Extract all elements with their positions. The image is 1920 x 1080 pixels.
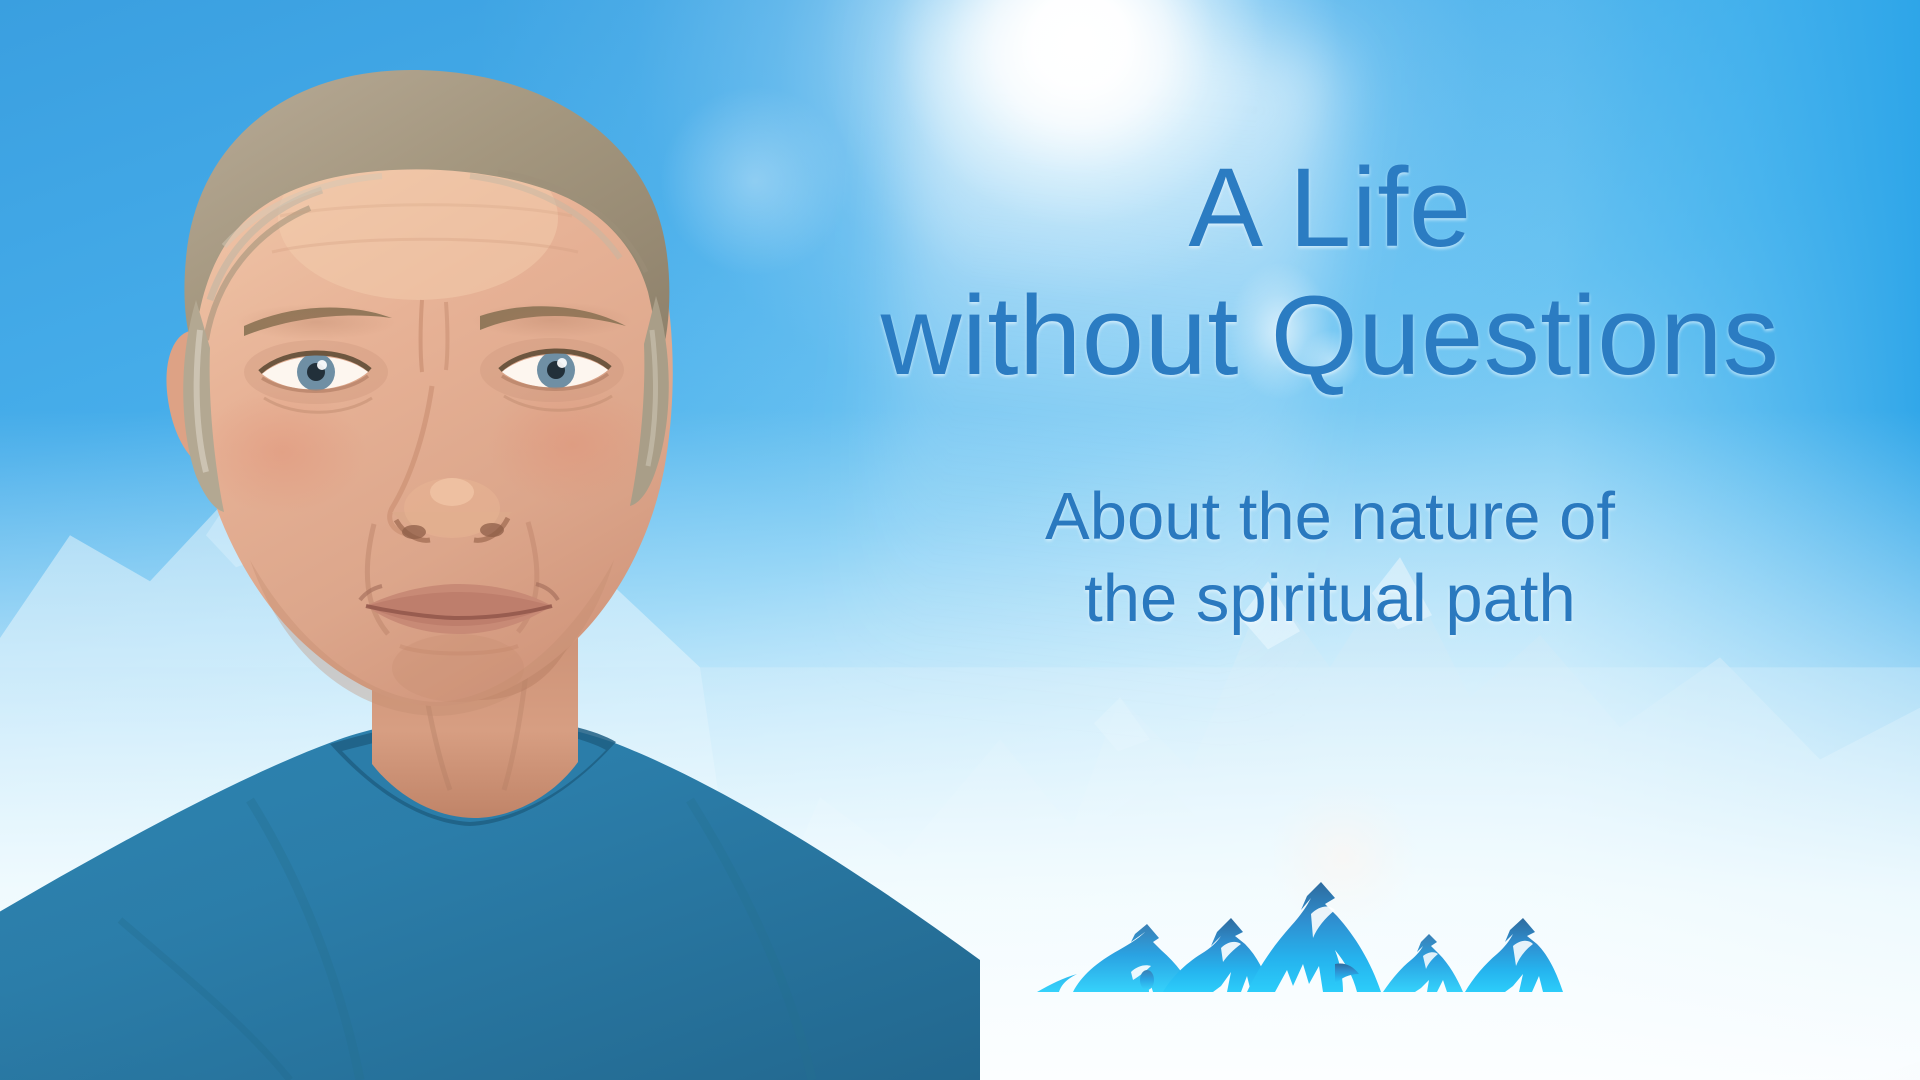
portrait-photo — [0, 0, 1010, 1080]
subtitle: About the nature of the spiritual path — [1045, 476, 1615, 639]
title-line-1: A Life — [1188, 152, 1471, 264]
title-line-2: without Questions — [881, 280, 1780, 392]
mountain-range-logo-icon — [1035, 880, 1565, 1005]
subtitle-line-1: About the nature of — [1045, 476, 1615, 558]
banner-image: A Life without Questions About the natur… — [0, 0, 1920, 1080]
subtitle-line-2: the spiritual path — [1045, 558, 1615, 640]
